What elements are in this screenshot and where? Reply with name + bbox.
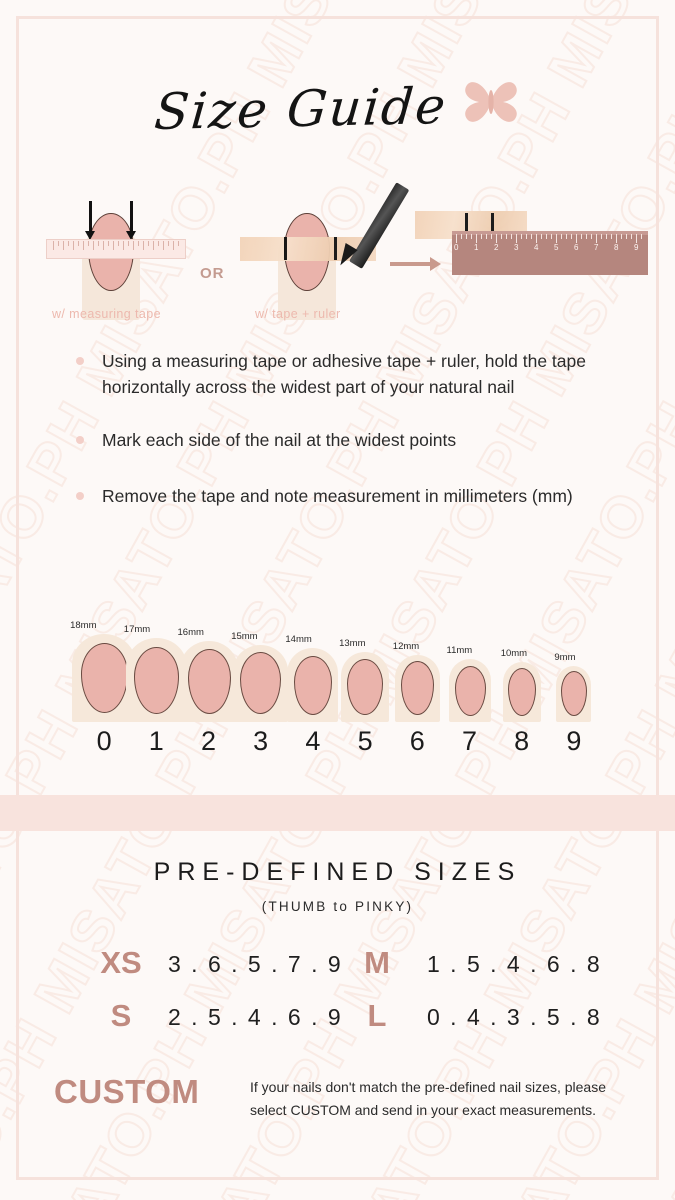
ruler: 0 1 2 3 4 5 6 7 8 9 (452, 231, 648, 275)
nail-size-number: 4 (297, 726, 329, 757)
ruler-number: 6 (574, 243, 578, 252)
table-row: S 2 . 5 . 4 . 6 . 9 L 0 . 4 . 3 . 5 . 8 (0, 998, 675, 1051)
nail-size-mm-label: 11mm (447, 645, 473, 656)
ruler-number: 4 (534, 243, 538, 252)
method-label-left: w/ measuring tape (52, 307, 161, 321)
size-values-xs: 3 . 6 . 5 . 7 . 9 (168, 951, 343, 978)
nail-chart-nail (188, 649, 231, 714)
nail-size-chart: 18mm17mm16mm15mm14mm13mm12mm11mm10mm9mm (0, 612, 675, 722)
nail-size-numbers: 0123456789 (0, 726, 675, 766)
size-values-s: 2 . 5 . 4 . 6 . 9 (168, 1004, 343, 1031)
ruler-number: 5 (554, 243, 558, 252)
ruler-number: 3 (514, 243, 518, 252)
nail-size-number: 8 (506, 726, 538, 757)
nail-size-mm-label: 17mm (124, 624, 150, 635)
instruction-text: Remove the tape and note measurement in … (102, 483, 616, 509)
size-values-l: 0 . 4 . 3 . 5 . 8 (427, 1004, 602, 1031)
nail-size-mm-label: 15mm (231, 631, 257, 642)
predefined-sizes-grid: XS 3 . 6 . 5 . 7 . 9 M 1 . 5 . 4 . 6 . 8… (0, 945, 675, 1051)
nail-size-mm-label: 13mm (339, 638, 365, 649)
ruler-number: 0 (454, 243, 458, 252)
nail-size-item: 12mm (395, 622, 440, 722)
nail-size-number: 6 (401, 726, 433, 757)
predefined-heading: PRE-DEFINED SIZES (0, 858, 675, 887)
nail-size-mm-label: 9mm (554, 652, 575, 663)
nail-size-number: 0 (88, 726, 120, 757)
section-divider-band (0, 795, 675, 831)
nail-chart-nail (455, 666, 486, 716)
custom-size-code: CUSTOM (54, 1073, 199, 1111)
nail-size-number: 1 (140, 726, 172, 757)
size-guide-page: MISATO.PH MISATO.PH MISATO.PH MISATO.PH … (0, 0, 675, 1200)
butterfly-icon (462, 78, 520, 131)
ruler-number: 1 (474, 243, 478, 252)
pen-mark-left-icon (284, 237, 287, 260)
predefined-subheading: (THUMB to PINKY) (0, 899, 675, 914)
custom-size-description: If your nails don't match the pre-define… (250, 1076, 610, 1121)
nail-size-number: 9 (558, 726, 590, 757)
list-item: Using a measuring tape or adhesive tape … (76, 348, 616, 401)
nail-size-item: 10mm (503, 622, 541, 722)
nail-size-item: 16mm (180, 622, 238, 722)
nail-size-mm-label: 14mm (285, 634, 311, 645)
ruler-number: 9 (634, 243, 638, 252)
bullet-dot-icon (76, 492, 84, 500)
table-row: XS 3 . 6 . 5 . 7 . 9 M 1 . 5 . 4 . 6 . 8 (0, 945, 675, 998)
nail-size-item: 14mm (287, 622, 338, 722)
method-label-right: w/ tape + ruler (255, 307, 341, 321)
arrow-left-mark-icon (89, 201, 92, 233)
page-title-wrap: Size Guide (0, 78, 675, 139)
nail-size-mm-label: 10mm (501, 648, 527, 659)
instruction-text: Using a measuring tape or adhesive tape … (102, 348, 616, 401)
nail-size-item: 13mm (341, 622, 389, 722)
nail-chart-nail (508, 668, 536, 716)
instruction-text: Mark each side of the nail at the widest… (102, 427, 616, 453)
bullet-dot-icon (76, 436, 84, 444)
nail-size-item: 11mm (449, 622, 491, 722)
nail-size-number: 5 (349, 726, 381, 757)
nail-size-number: 7 (454, 726, 486, 757)
size-values-m: 1 . 5 . 4 . 6 . 8 (427, 951, 602, 978)
page-title: Size Guide (153, 76, 450, 140)
nail-size-number: 2 (193, 726, 225, 757)
ruler-number: 8 (614, 243, 618, 252)
ruler-number: 7 (594, 243, 598, 252)
instructions-list: Using a measuring tape or adhesive tape … (76, 348, 616, 535)
list-item: Mark each side of the nail at the widest… (76, 427, 616, 453)
measurement-illustrations: w/ measuring tape OR w/ tape + ruler (0, 185, 675, 335)
ruler-number: 2 (494, 243, 498, 252)
flow-arrow-head-icon (430, 257, 441, 271)
measuring-tape (46, 239, 186, 259)
pen-body-icon (349, 182, 409, 269)
bullet-dot-icon (76, 357, 84, 365)
nail-size-item: 9mm (556, 622, 591, 722)
list-item: Remove the tape and note measurement in … (76, 483, 616, 509)
or-label: OR (200, 265, 225, 282)
size-code-s: S (86, 998, 156, 1034)
arrow-right-mark-icon (130, 201, 133, 233)
nail-size-mm-label: 16mm (178, 627, 204, 638)
nail-size-number: 3 (245, 726, 277, 757)
flow-arrow-shaft-icon (390, 262, 432, 266)
size-code-xs: XS (86, 945, 156, 981)
nail-size-mm-label: 12mm (393, 641, 419, 652)
nail-size-mm-label: 18mm (70, 620, 96, 631)
size-code-l: L (342, 998, 412, 1034)
size-code-m: M (342, 945, 412, 981)
nail-size-item: 15mm (233, 622, 288, 722)
